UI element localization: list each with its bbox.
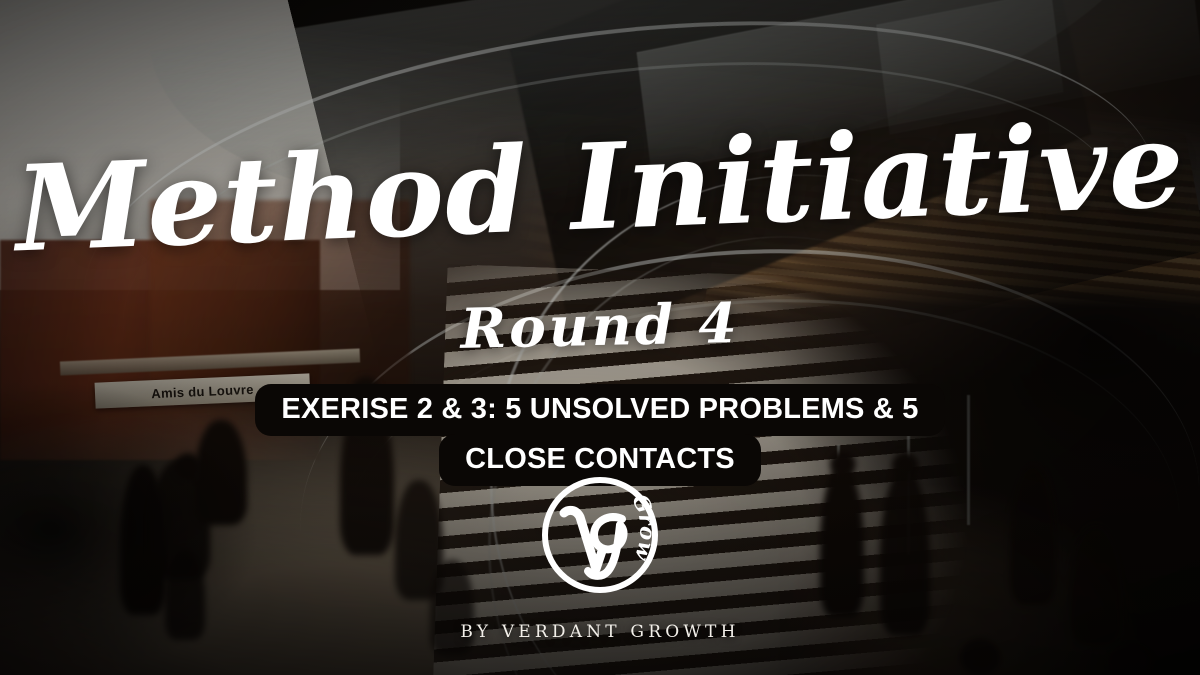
title-card: Amis du Louvre Method Init [0,0,1200,675]
footer-credit: BY VERDANT GROWTH [0,622,1200,642]
round-subtitle: Round 4 [0,285,1200,365]
exercise-banner: EXERISE 2 & 3: 5 UNSOLVED PROBLEMS & 5 C… [0,384,1200,486]
slide-content: Method Initiative Round 4 EXERISE 2 & 3:… [0,0,1200,675]
page-title: Method Initiative [0,105,1200,269]
logo-circle-icon: Growth [538,473,662,597]
verdant-growth-logo: Growth [538,473,662,597]
banner-line-one: EXERISE 2 & 3: 5 UNSOLVED PROBLEMS & 5 [255,384,944,436]
